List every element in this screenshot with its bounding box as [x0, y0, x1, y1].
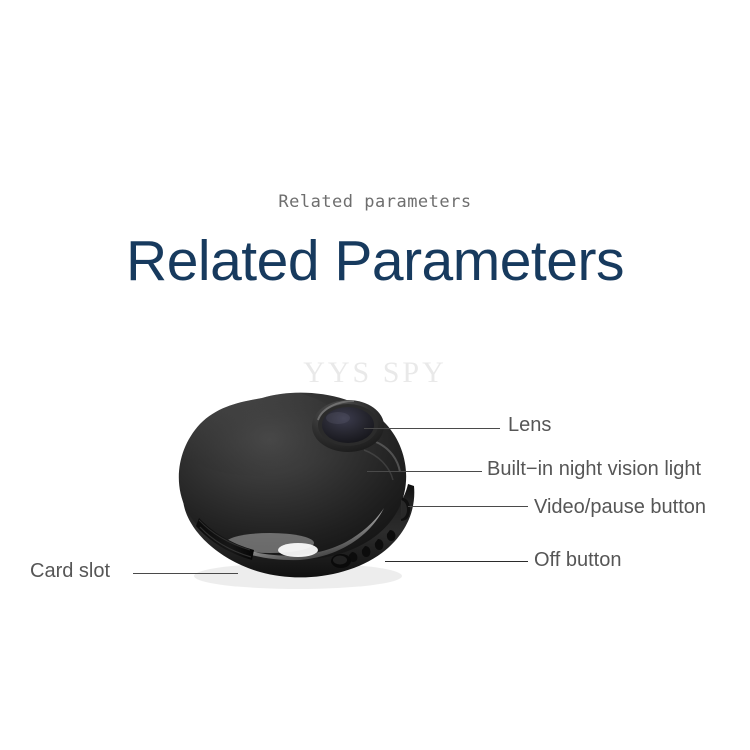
- product-infographic-page: Related parameters Related Parameters YY…: [0, 0, 750, 750]
- off-button[interactable]: [331, 554, 351, 568]
- callout-label-offbutton: Off button: [534, 550, 621, 570]
- callout-label-videopause: Video/pause button: [534, 497, 706, 517]
- leader-line-offbutton: [385, 561, 528, 562]
- leader-line-cardslot: [133, 573, 238, 574]
- leader-line-lens: [364, 428, 500, 429]
- callout-label-cardslot: Card slot: [30, 561, 110, 581]
- product-illustration: [150, 380, 450, 620]
- camera-lens: [312, 400, 384, 452]
- leader-line-videopause: [408, 506, 528, 507]
- product-image: [150, 380, 450, 620]
- callout-label-nightvision: Built−in night vision light: [487, 459, 701, 479]
- page-title: Related Parameters: [0, 228, 750, 294]
- callout-label-lens: Lens: [508, 415, 551, 435]
- leader-line-nightvision: [367, 471, 482, 472]
- page-subtitle: Related parameters: [0, 192, 750, 212]
- lens-glass: [322, 407, 374, 443]
- lens-glass-highlight: [326, 412, 350, 424]
